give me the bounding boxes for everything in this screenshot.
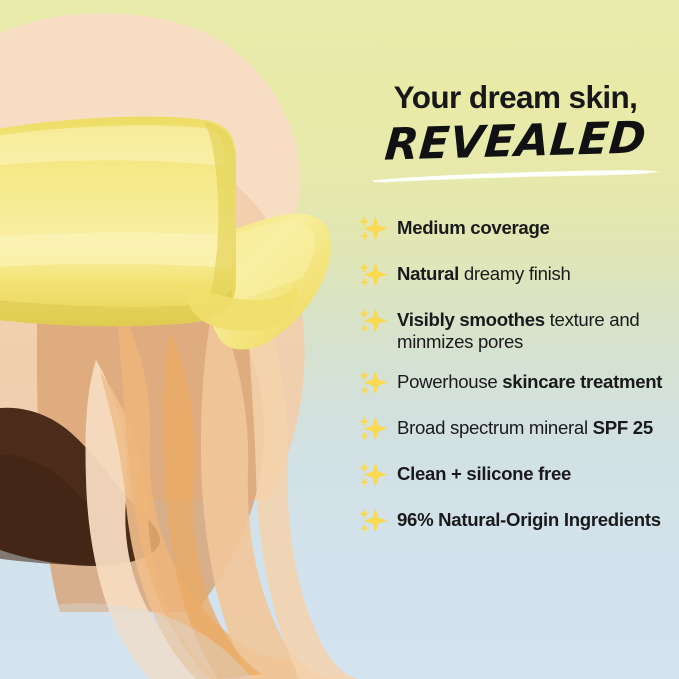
list-item-bold: Visibly smoothes bbox=[397, 309, 545, 330]
list-item-label: Powerhouse skincare treatment bbox=[397, 368, 679, 393]
list-item-label: Natural dreamy finish bbox=[397, 260, 679, 285]
headline: Your dream skin, REVEALED bbox=[352, 80, 679, 176]
list-item: 96% Natural-Origin Ingredients bbox=[356, 506, 679, 538]
sparkles-icon bbox=[356, 306, 392, 338]
list-item-bold: SPF 25 bbox=[593, 417, 653, 438]
list-item: Visibly smoothes texture and minmizes po… bbox=[356, 306, 679, 354]
sparkles-icon bbox=[356, 460, 392, 492]
headline-line-2-wrap: REVEALED bbox=[352, 116, 679, 176]
list-item-bold: 96% Natural-Origin Ingredients bbox=[397, 509, 661, 530]
feature-list: Medium coverage Natural dreamy finish bbox=[356, 214, 679, 552]
sparkles-icon bbox=[356, 214, 392, 246]
list-item-rest: dreamy finish bbox=[459, 263, 571, 284]
sparkles-icon bbox=[356, 506, 392, 538]
list-item-bold: Clean + silicone free bbox=[397, 463, 571, 484]
product-artwork bbox=[0, 0, 360, 679]
list-item-label: 96% Natural-Origin Ingredients bbox=[397, 506, 679, 531]
list-item-label: Broad spectrum mineral SPF 25 bbox=[397, 414, 679, 439]
headline-line-1: Your dream skin, bbox=[352, 80, 679, 114]
list-item: Clean + silicone free bbox=[356, 460, 679, 492]
list-item: Medium coverage bbox=[356, 214, 679, 246]
headline-line-2: REVEALED bbox=[350, 111, 679, 171]
marketing-graphic: Your dream skin, REVEALED bbox=[0, 0, 679, 679]
text-column: Your dream skin, REVEALED bbox=[352, 0, 679, 679]
brush-underline-icon bbox=[370, 168, 662, 184]
list-item-bold: skincare treatment bbox=[502, 371, 662, 392]
list-item-label: Medium coverage bbox=[397, 214, 679, 239]
list-item-bold: Medium coverage bbox=[397, 217, 550, 238]
list-item: Broad spectrum mineral SPF 25 bbox=[356, 414, 679, 446]
sparkles-icon bbox=[356, 368, 392, 400]
list-item-rest: Powerhouse bbox=[397, 371, 502, 392]
list-item: Powerhouse skincare treatment bbox=[356, 368, 679, 400]
list-item: Natural dreamy finish bbox=[356, 260, 679, 292]
sparkles-icon bbox=[356, 260, 392, 292]
sparkles-icon bbox=[356, 414, 392, 446]
list-item-label: Clean + silicone free bbox=[397, 460, 679, 485]
list-item-rest: Broad spectrum mineral bbox=[397, 417, 593, 438]
list-item-label: Visibly smoothes texture and minmizes po… bbox=[397, 306, 679, 354]
list-item-bold: Natural bbox=[397, 263, 459, 284]
